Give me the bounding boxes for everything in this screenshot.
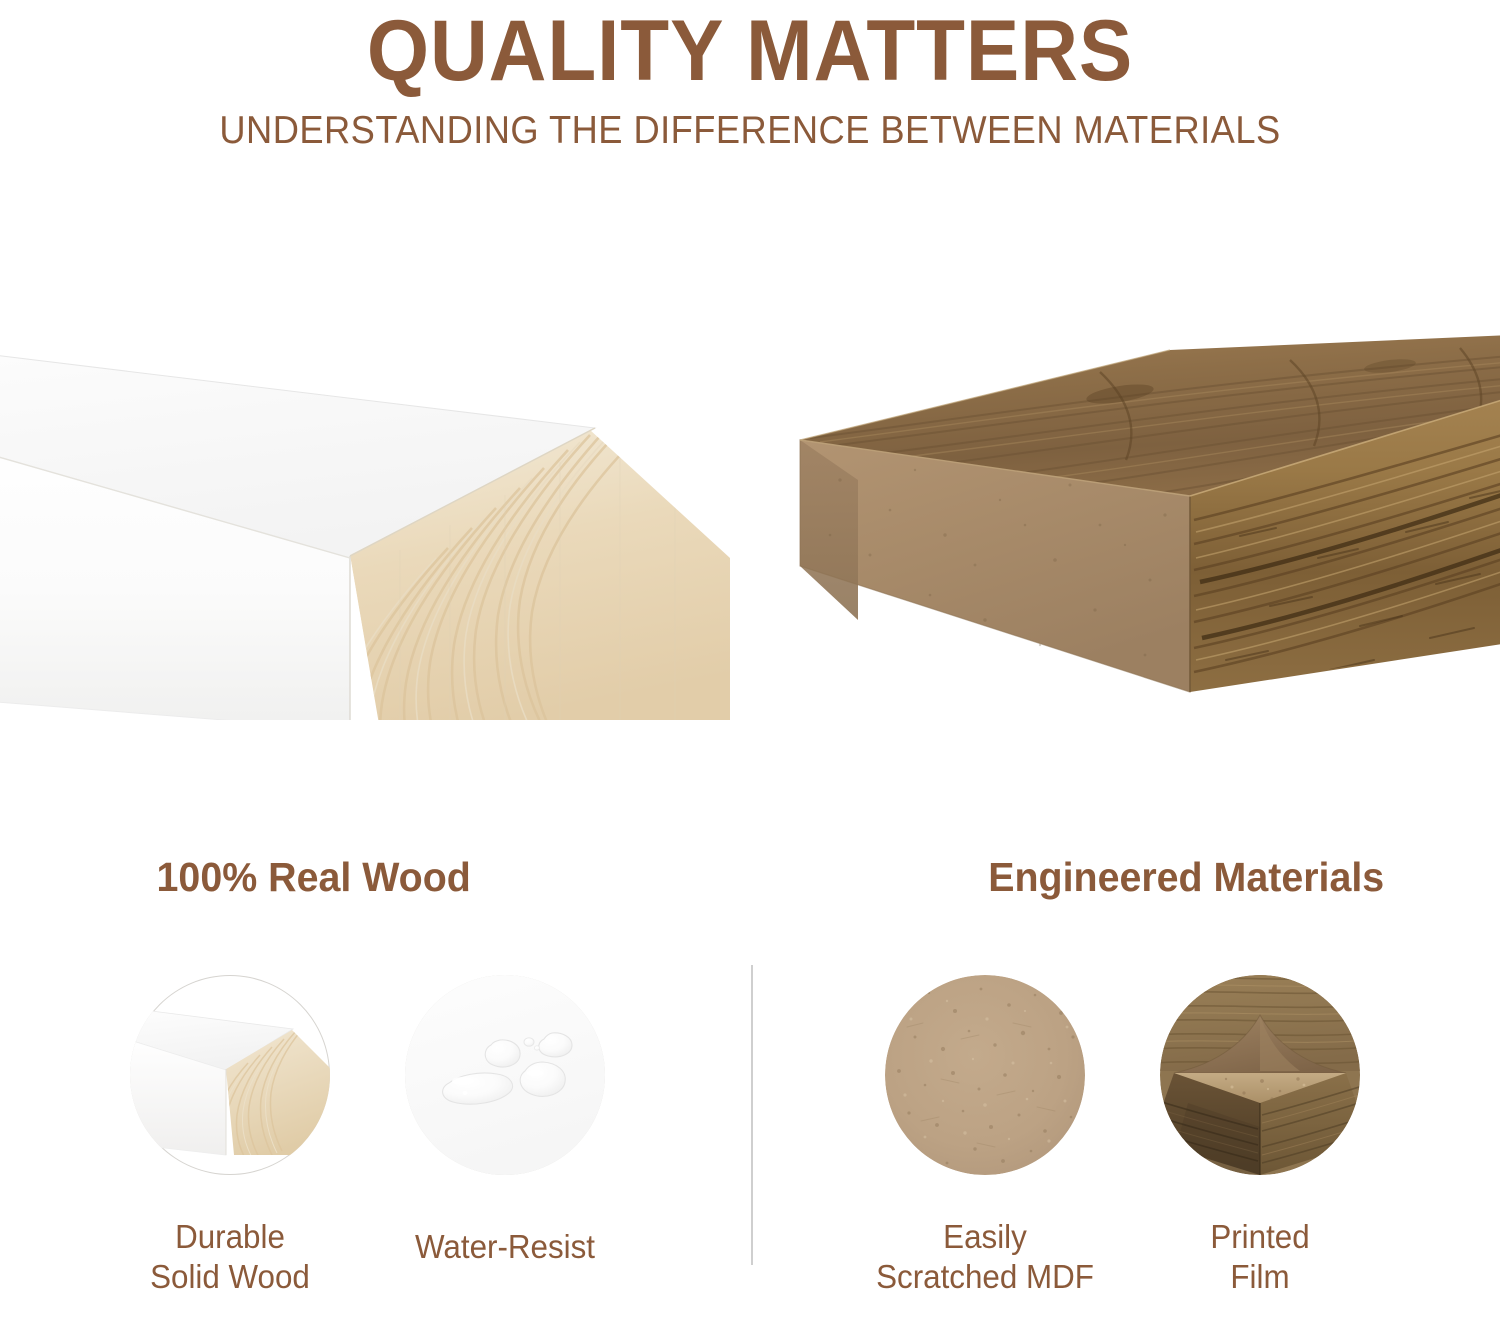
page-header: QUALITY MATTERS UNDERSTANDING THE DIFFER… [0, 0, 1500, 155]
engineered-mdf-shelf-photo [770, 320, 1500, 720]
feature-durable-solid-wood: Durable Solid Wood [110, 975, 350, 1297]
page-subtitle: UNDERSTANDING THE DIFFERENCE BETWEEN MAT… [53, 107, 1448, 155]
white-solid-wood-shelf-photo [0, 300, 730, 720]
feature-label-easily-scratched-mdf: Easily Scratched MDF [871, 1217, 1099, 1297]
heading-cell-engineered: Engineered Materials [750, 852, 1500, 902]
hero-comparison [0, 290, 1500, 740]
page-title: QUALITY MATTERS [53, 4, 1448, 98]
water-droplets-icon [405, 975, 605, 1175]
feature-label-printed-film: Printed Film [1146, 1217, 1374, 1297]
feature-easily-scratched-mdf: Easily Scratched MDF [865, 975, 1105, 1297]
mdf-particle-board-icon [885, 975, 1085, 1175]
solid-wood-edge-icon [130, 975, 330, 1175]
feature-label-durable-solid-wood: Durable Solid Wood [116, 1217, 344, 1297]
section-headings: 100% Real Wood Engineered Materials [0, 852, 1500, 902]
section-heading-engineered-materials: Engineered Materials [988, 852, 1384, 902]
heading-cell-real-wood: 100% Real Wood [0, 852, 750, 902]
peeling-printed-film-icon [1160, 975, 1360, 1175]
feature-row: Durable Solid Wood [0, 975, 1500, 1305]
feature-printed-film: Printed Film [1140, 975, 1380, 1297]
feature-label-water-resist: Water-Resist [391, 1227, 619, 1267]
section-heading-real-wood: 100% Real Wood [157, 852, 471, 902]
feature-water-resist: Water-Resist [385, 975, 625, 1267]
